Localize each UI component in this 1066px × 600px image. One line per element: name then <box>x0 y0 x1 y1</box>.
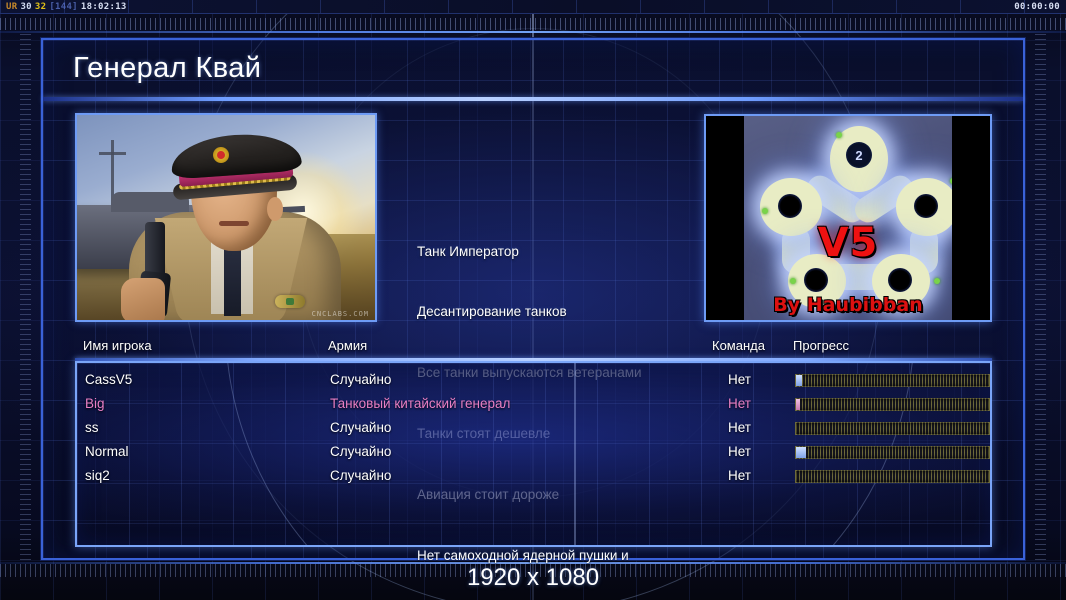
map-preview-image: 2 V5 By Haubibban <box>706 116 990 320</box>
general-info-row: CNCLABS.COM Танк Император Десантировани… <box>43 108 1023 330</box>
description-line: Танк Император <box>417 242 642 262</box>
ruler-top <box>0 18 1066 30</box>
player-team[interactable]: Нет <box>728 444 751 459</box>
player-progress-fill <box>796 375 802 386</box>
player-name: Big <box>85 396 105 411</box>
status-clock: 18:02:13 <box>81 2 127 12</box>
player-army[interactable]: Случайно <box>330 372 391 387</box>
player-name: ss <box>85 420 99 435</box>
player-progress-bar <box>795 374 990 387</box>
status-ur-label: UR <box>6 2 17 12</box>
status-left-group: UR 30 32 [144] 18:02:13 <box>6 2 127 12</box>
column-header-progress: Прогресс <box>793 338 849 353</box>
column-header-name: Имя игрока <box>83 338 152 353</box>
map-name-overlay: V5 <box>818 220 879 266</box>
player-progress-fill <box>796 399 800 410</box>
player-name: siq2 <box>85 468 110 483</box>
player-list-box: CassV5 Случайно Нет Big Танковый китайск… <box>75 361 992 547</box>
resolution-label: 1920 x 1080 <box>0 564 1066 592</box>
title-underline <box>43 97 1023 101</box>
player-team[interactable]: Нет <box>728 396 751 411</box>
player-list-section: Имя игрока Армия Команда Прогресс CassV5… <box>43 336 1023 558</box>
officer-hand <box>121 278 165 322</box>
player-team[interactable]: Нет <box>728 468 751 483</box>
status-bracket: [144] <box>49 2 78 12</box>
map-terrain: 2 V5 By Haubibban <box>744 116 952 320</box>
status-game-timer: 00:00:00 <box>1014 2 1060 12</box>
column-header-team: Команда <box>712 338 765 353</box>
player-progress-bar <box>795 446 990 459</box>
map-start-position-label: 2 <box>846 142 872 168</box>
table-row[interactable]: siq2 Случайно Нет <box>77 465 990 489</box>
map-supply-dot <box>762 208 768 214</box>
player-name: CassV5 <box>85 372 132 387</box>
game-lobby-screen: UR 30 32 [144] 18:02:13 00:00:00 Генерал… <box>0 0 1066 600</box>
officer-mouth <box>219 221 249 226</box>
ruler-top-line <box>0 31 1066 33</box>
title-row: Генерал Квай <box>43 40 1023 103</box>
status-fps: 30 <box>20 2 31 12</box>
general-portrait: CNCLABS.COM <box>75 113 377 322</box>
player-army[interactable]: Случайно <box>330 468 391 483</box>
player-progress-fill <box>796 447 806 458</box>
officer-chest-badge-icon <box>275 295 305 308</box>
status-fps-alt: 32 <box>35 2 46 12</box>
player-army[interactable]: Случайно <box>330 420 391 435</box>
player-progress-bar <box>795 422 990 435</box>
player-team[interactable]: Нет <box>728 420 751 435</box>
player-team[interactable]: Нет <box>728 372 751 387</box>
map-preview[interactable]: 2 V5 By Haubibban <box>704 114 992 322</box>
ruler-right <box>1035 34 1046 560</box>
map-supply-dot <box>934 278 940 284</box>
column-header-army: Армия <box>328 338 367 353</box>
map-start-position <box>888 268 912 292</box>
portrait-officer <box>127 133 342 322</box>
player-army[interactable]: Случайно <box>330 444 391 459</box>
main-panel: Генерал Квай <box>41 38 1025 560</box>
portrait-artwork: CNCLABS.COM <box>77 115 375 320</box>
map-start-position <box>804 268 828 292</box>
player-progress-bar <box>795 398 990 411</box>
map-supply-dot <box>950 178 952 184</box>
player-name: Normal <box>85 444 129 459</box>
player-army[interactable]: Танковый китайский генерал <box>330 396 510 411</box>
officer-ear <box>267 197 283 221</box>
map-supply-dot <box>836 132 842 138</box>
player-progress-bar <box>795 470 990 483</box>
map-author-overlay: By Haubibban <box>773 294 922 316</box>
table-row[interactable]: ss Случайно Нет <box>77 417 990 441</box>
status-bar-grid <box>0 0 1066 13</box>
player-list-header: Имя игрока Армия Команда Прогресс <box>75 336 992 358</box>
page-title: Генерал Квай <box>73 52 261 85</box>
status-bar: UR 30 32 [144] 18:02:13 00:00:00 <box>0 0 1066 14</box>
table-row[interactable]: Big Танковый китайский генерал Нет <box>77 393 990 417</box>
portrait-watermark: CNCLABS.COM <box>312 310 369 318</box>
table-row[interactable]: Normal Случайно Нет <box>77 441 990 465</box>
map-start-position <box>778 194 802 218</box>
table-row[interactable]: CassV5 Случайно Нет <box>77 369 990 393</box>
description-line: Десантирование танков <box>417 302 642 322</box>
map-start-position <box>914 194 938 218</box>
map-supply-dot <box>790 278 796 284</box>
ruler-left <box>20 34 31 560</box>
